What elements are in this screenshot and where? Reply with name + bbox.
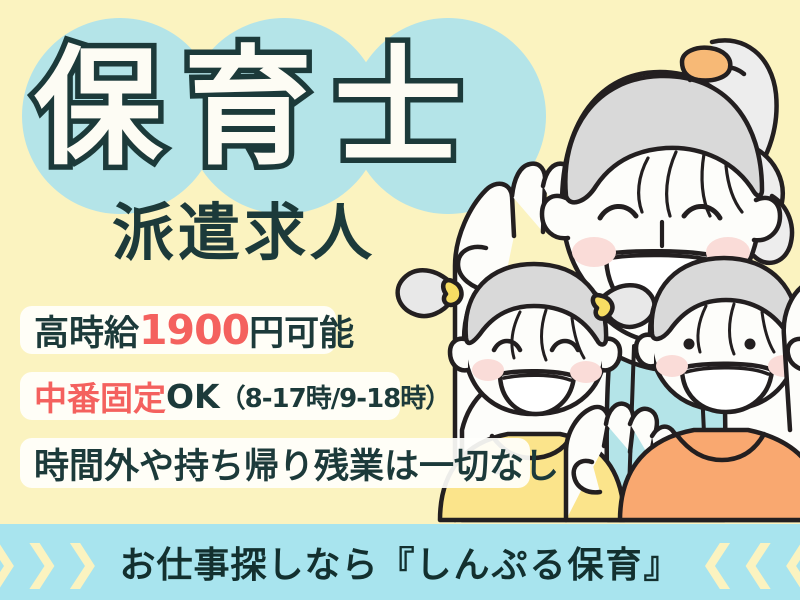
footer-text: お仕事探しなら『しんぷる保育』 xyxy=(119,536,680,588)
shift-label: OK xyxy=(166,377,220,416)
chevron-right-icon-2: ❯ xyxy=(22,539,61,585)
feature-pill-overtime: 時間外や持ち帰り残業は一切なし xyxy=(20,438,530,488)
feature-pill-wage: 高時給1900円可能 xyxy=(20,306,336,354)
overtime-text: 時間外や持ち帰り残業は一切なし xyxy=(34,438,559,489)
wage-amount: 1900 xyxy=(139,306,249,354)
page-title: 保育士 xyxy=(34,34,554,184)
footer-bracket-open: 『 xyxy=(378,545,415,586)
footer-bracket-close: 』 xyxy=(644,545,681,586)
shift-accent: 中番固定 xyxy=(34,372,166,420)
shift-detail: （8-17時/9-18時） xyxy=(220,378,451,415)
footer-lead: お仕事探しなら xyxy=(119,545,378,586)
wage-suffix: 円可能 xyxy=(249,305,354,356)
chevrons-right-icon: ❯ ❯ ❯ xyxy=(0,539,101,585)
footer-brand: しんぷる保育 xyxy=(416,545,644,586)
page-subtitle: 派遣求人 xyxy=(112,196,376,270)
job-ad-banner: 保育士 派遣求人 高時給1900円可能 中番固定OK（8-17時/9-18時） … xyxy=(0,0,800,600)
chevron-right-icon-1: ❯ xyxy=(0,539,20,585)
wage-prefix: 高時給 xyxy=(34,305,139,356)
feature-pill-shift: 中番固定OK（8-17時/9-18時） xyxy=(20,372,400,420)
chevrons-left-icon: ❮ ❮ ❮ xyxy=(699,539,800,585)
chevron-right-icon-3: ❯ xyxy=(63,539,102,585)
chevron-left-icon-3: ❮ xyxy=(780,539,800,585)
chevron-left-icon-1: ❮ xyxy=(699,539,738,585)
footer-bar: ❯ ❯ ❯ お仕事探しなら『しんぷる保育』 ❮ ❮ ❮ xyxy=(0,524,800,600)
chevron-left-icon-2: ❮ xyxy=(739,539,778,585)
